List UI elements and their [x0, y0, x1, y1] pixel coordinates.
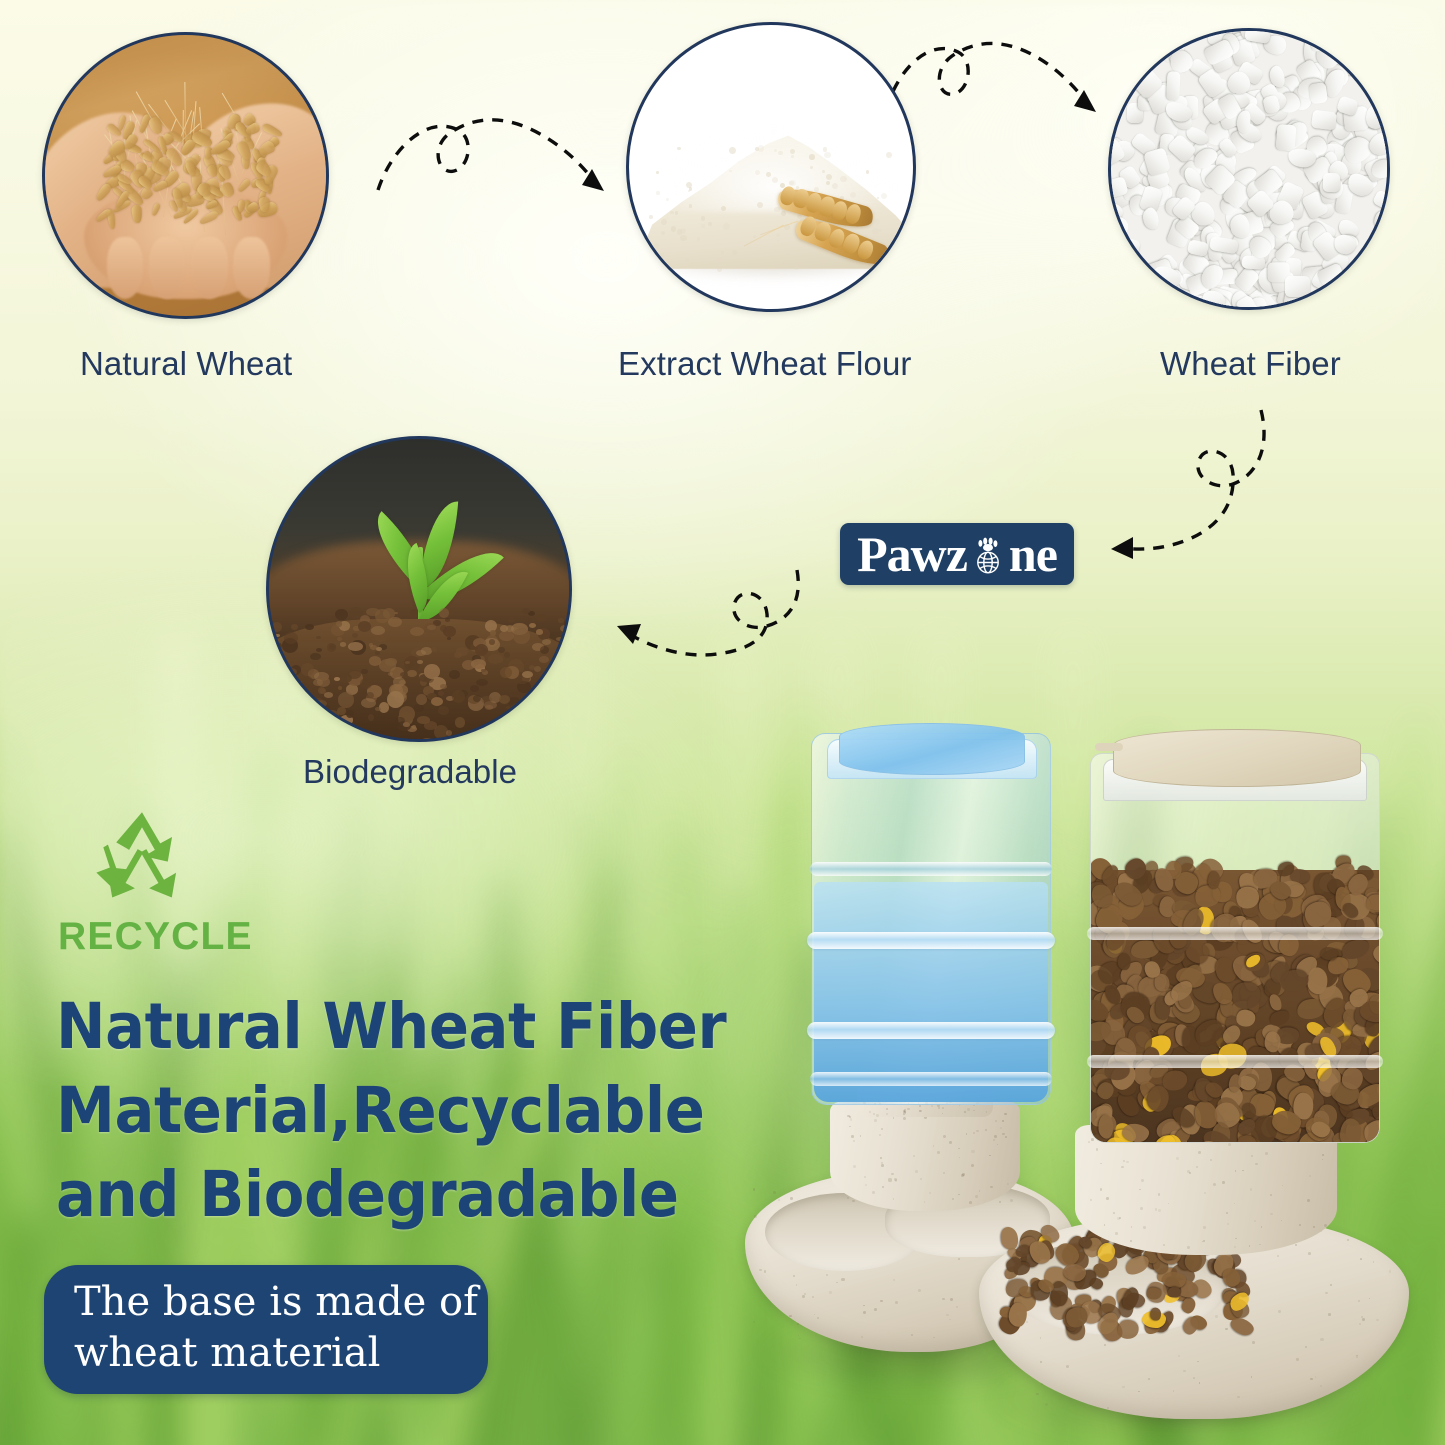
arrow-4-brand-to-biodegradable	[595, 552, 845, 672]
brand-logo-text: Pawz	[857, 529, 1057, 579]
step-image-extract-wheat-flour	[626, 22, 916, 312]
wheat-material-badge: The base is made of wheat material	[44, 1265, 488, 1394]
food-lid-tab	[1095, 743, 1123, 751]
step-label-biodegradable: Biodegradable	[303, 753, 517, 791]
water-tank	[811, 733, 1051, 1105]
product-photo	[735, 715, 1445, 1445]
food-tank	[1090, 753, 1380, 1143]
step-image-wheat-fiber	[1108, 28, 1390, 310]
badge-line-1: The base is made of	[74, 1277, 478, 1328]
recycle-label: RECYCLE	[58, 915, 253, 959]
badge-line-2: wheat material	[74, 1328, 478, 1379]
food-base-cone	[1075, 1125, 1337, 1255]
paw-print-icon	[978, 538, 997, 552]
brand-logo: Pawz	[840, 523, 1074, 585]
step-label-natural-wheat: Natural Wheat	[80, 345, 292, 383]
infographic-canvas: Natural Wheat	[0, 0, 1445, 1445]
water-tank-cap	[839, 723, 1025, 775]
brand-name-part-1: Pawz	[857, 529, 967, 579]
arrow-1-wheat-to-flour	[370, 95, 620, 205]
step-label-extract-wheat-flour: Extract Wheat Flour	[618, 345, 912, 383]
step-label-wheat-fiber: Wheat Fiber	[1160, 345, 1341, 383]
water-base-cone	[830, 1101, 1020, 1211]
step-image-biodegradable	[266, 436, 572, 742]
brand-name-part-2: ne	[1009, 529, 1057, 579]
globe-icon	[968, 534, 1008, 574]
arrow-3-fiber-to-brand	[1085, 398, 1335, 578]
recycle-icon	[68, 808, 216, 926]
water-level	[814, 882, 1048, 1102]
food-tank-lid	[1113, 729, 1361, 787]
step-image-natural-wheat	[42, 32, 329, 319]
arrow-2-flour-to-fiber	[880, 22, 1110, 132]
